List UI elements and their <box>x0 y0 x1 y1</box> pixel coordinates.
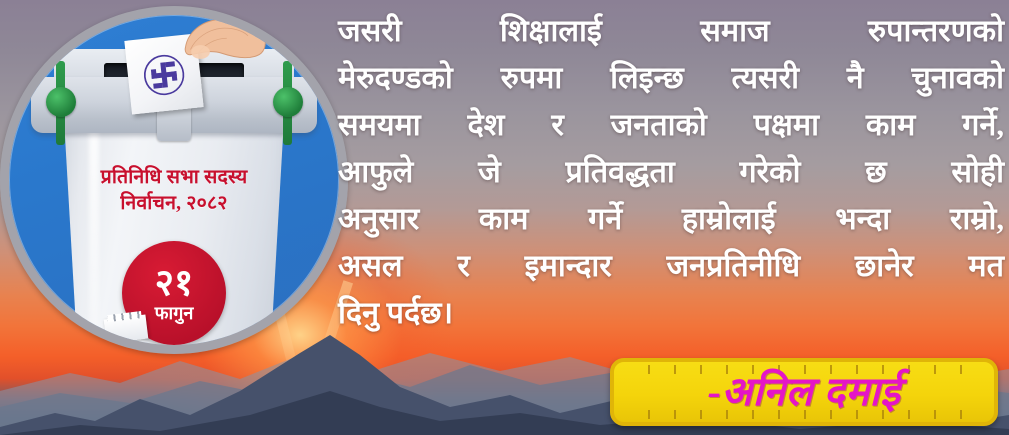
quote-line: असल र इमान्दार जनप्रतिनीधि छानेर मत <box>338 243 1004 290</box>
quote-line: समयमा देश र जनताको पक्षमा काम गर्ने, <box>338 102 1004 149</box>
ballot-seal-clip-left <box>56 61 65 145</box>
quote-line: मेरुदण्डको रुपमा लिइन्छ त्यसरी नै चुनावक… <box>338 55 1004 102</box>
election-date-day: २१ <box>155 265 193 302</box>
ballot-paper <box>124 33 203 114</box>
ballot-emblem-circle: प्रतिनिधि सभा सदस्य निर्वाचन, २०८२ २१ फा… <box>0 6 348 354</box>
ballot-papers-stack <box>104 315 149 344</box>
ballot-box-label: प्रतिनिधि सभा सदस्य निर्वाचन, २०८२ <box>49 165 299 218</box>
election-date-month: फागुन <box>155 304 194 322</box>
attribution-plaque: -अनिल दमाई <box>610 358 998 426</box>
quote-line: आफुले जे प्रतिवद्धता गरेको छ सोही <box>338 149 1004 196</box>
quote-line: अनुसार काम गर्ने हाम्रोलाई भन्दा राम्रो, <box>338 196 1004 243</box>
quote-line: दिनु पर्दछ। <box>338 290 1004 337</box>
quote-line: जसरी शिक्षालाई समाज रुपान्तरणको <box>338 8 1004 55</box>
attribution-label: -अनिल दमाई <box>708 372 901 412</box>
ballot-seal-clip-right <box>283 61 292 145</box>
swastika-symbol-icon <box>141 52 187 98</box>
election-quote-poster: प्रतिनिधि सभा सदस्य निर्वाचन, २०८२ २१ फा… <box>0 0 1009 435</box>
quote-text: जसरी शिक्षालाई समाज रुपान्तरणको मेरुदण्ड… <box>338 8 1004 337</box>
